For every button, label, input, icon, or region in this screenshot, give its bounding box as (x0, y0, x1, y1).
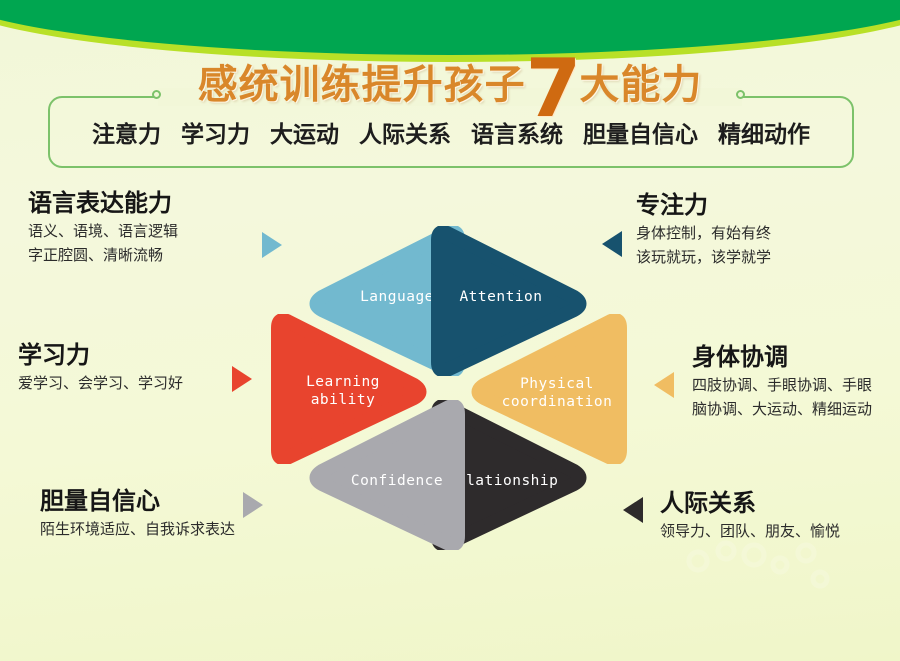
callout-attention: 专注力 身体控制，有始有终 该玩就玩，该学就学 (636, 192, 771, 269)
callout-learning-ability: 学习力 爱学习、会学习、学习好 (18, 342, 183, 394)
keyword-item-4: 语言系统 (471, 115, 563, 149)
callout-language-expression-line1: 语义、语境、语言逻辑 (28, 220, 178, 243)
pointer-relationship-icon (623, 497, 643, 523)
callout-physical-coordination-line2: 脑协调、大运动、精细运动 (692, 398, 872, 421)
callout-confidence-heading: 胆量自信心 (40, 488, 235, 516)
callout-relationship: 人际关系 领导力、团队、朋友、愉悦 (660, 490, 840, 542)
pointer-language-icon (262, 232, 282, 258)
callout-attention-line1: 身体控制，有始有终 (636, 222, 771, 245)
keyword-item-1: 学习力 (181, 115, 250, 149)
callout-attention-heading: 专注力 (636, 192, 771, 220)
callout-relationship-line1: 领导力、团队、朋友、愉悦 (660, 520, 840, 543)
callout-attention-line2: 该玩就玩，该学就学 (636, 246, 771, 269)
callout-physical-coordination-heading: 身体协调 (692, 344, 872, 372)
keyword-item-6: 精细动作 (718, 115, 810, 149)
callout-language-expression: 语言表达能力 语义、语境、语言逻辑 字正腔圆、清晰流畅 (28, 190, 178, 267)
keyword-item-5: 胆量自信心 (583, 115, 698, 149)
keyword-item-2: 大运动 (270, 115, 339, 149)
pointer-attention-icon (602, 231, 622, 257)
watermark-decoration (670, 539, 860, 619)
pointer-confidence-icon (243, 492, 263, 518)
callout-confidence: 胆量自信心 陌生环境适应、自我诉求表达 (40, 488, 235, 540)
keyword-list: 注意力 学习力 大运动 人际关系 语言系统 胆量自信心 精细动作 (48, 96, 854, 168)
callout-relationship-heading: 人际关系 (660, 490, 840, 518)
callout-learning-ability-heading: 学习力 (18, 342, 183, 370)
pointer-physical-icon (654, 372, 674, 398)
callout-physical-coordination: 身体协调 四肢协调、手眼协调、手眼 脑协调、大运动、精细运动 (692, 344, 872, 421)
callout-physical-coordination-line1: 四肢协调、手眼协调、手眼 (692, 374, 872, 397)
keyword-item-0: 注意力 (92, 115, 161, 149)
callout-language-expression-heading: 语言表达能力 (28, 190, 178, 218)
pointer-learning-icon (232, 366, 252, 392)
callout-language-expression-line2: 字正腔圆、清晰流畅 (28, 244, 178, 267)
petal-learning-ability: Learning ability (268, 314, 430, 464)
keyword-item-3: 人际关系 (359, 115, 451, 149)
callout-learning-ability-line1: 爱学习、会学习、学习好 (18, 372, 183, 395)
petal-learning-ability-shape (268, 314, 430, 464)
callout-confidence-line1: 陌生环境适应、自我诉求表达 (40, 518, 235, 541)
ability-wheel: Language Attention Physical coordination (268, 222, 632, 552)
poster-canvas: 感统训练提升孩子7大能力 注意力 学习力 大运动 人际关系 语言系统 胆量自信心… (0, 0, 900, 661)
